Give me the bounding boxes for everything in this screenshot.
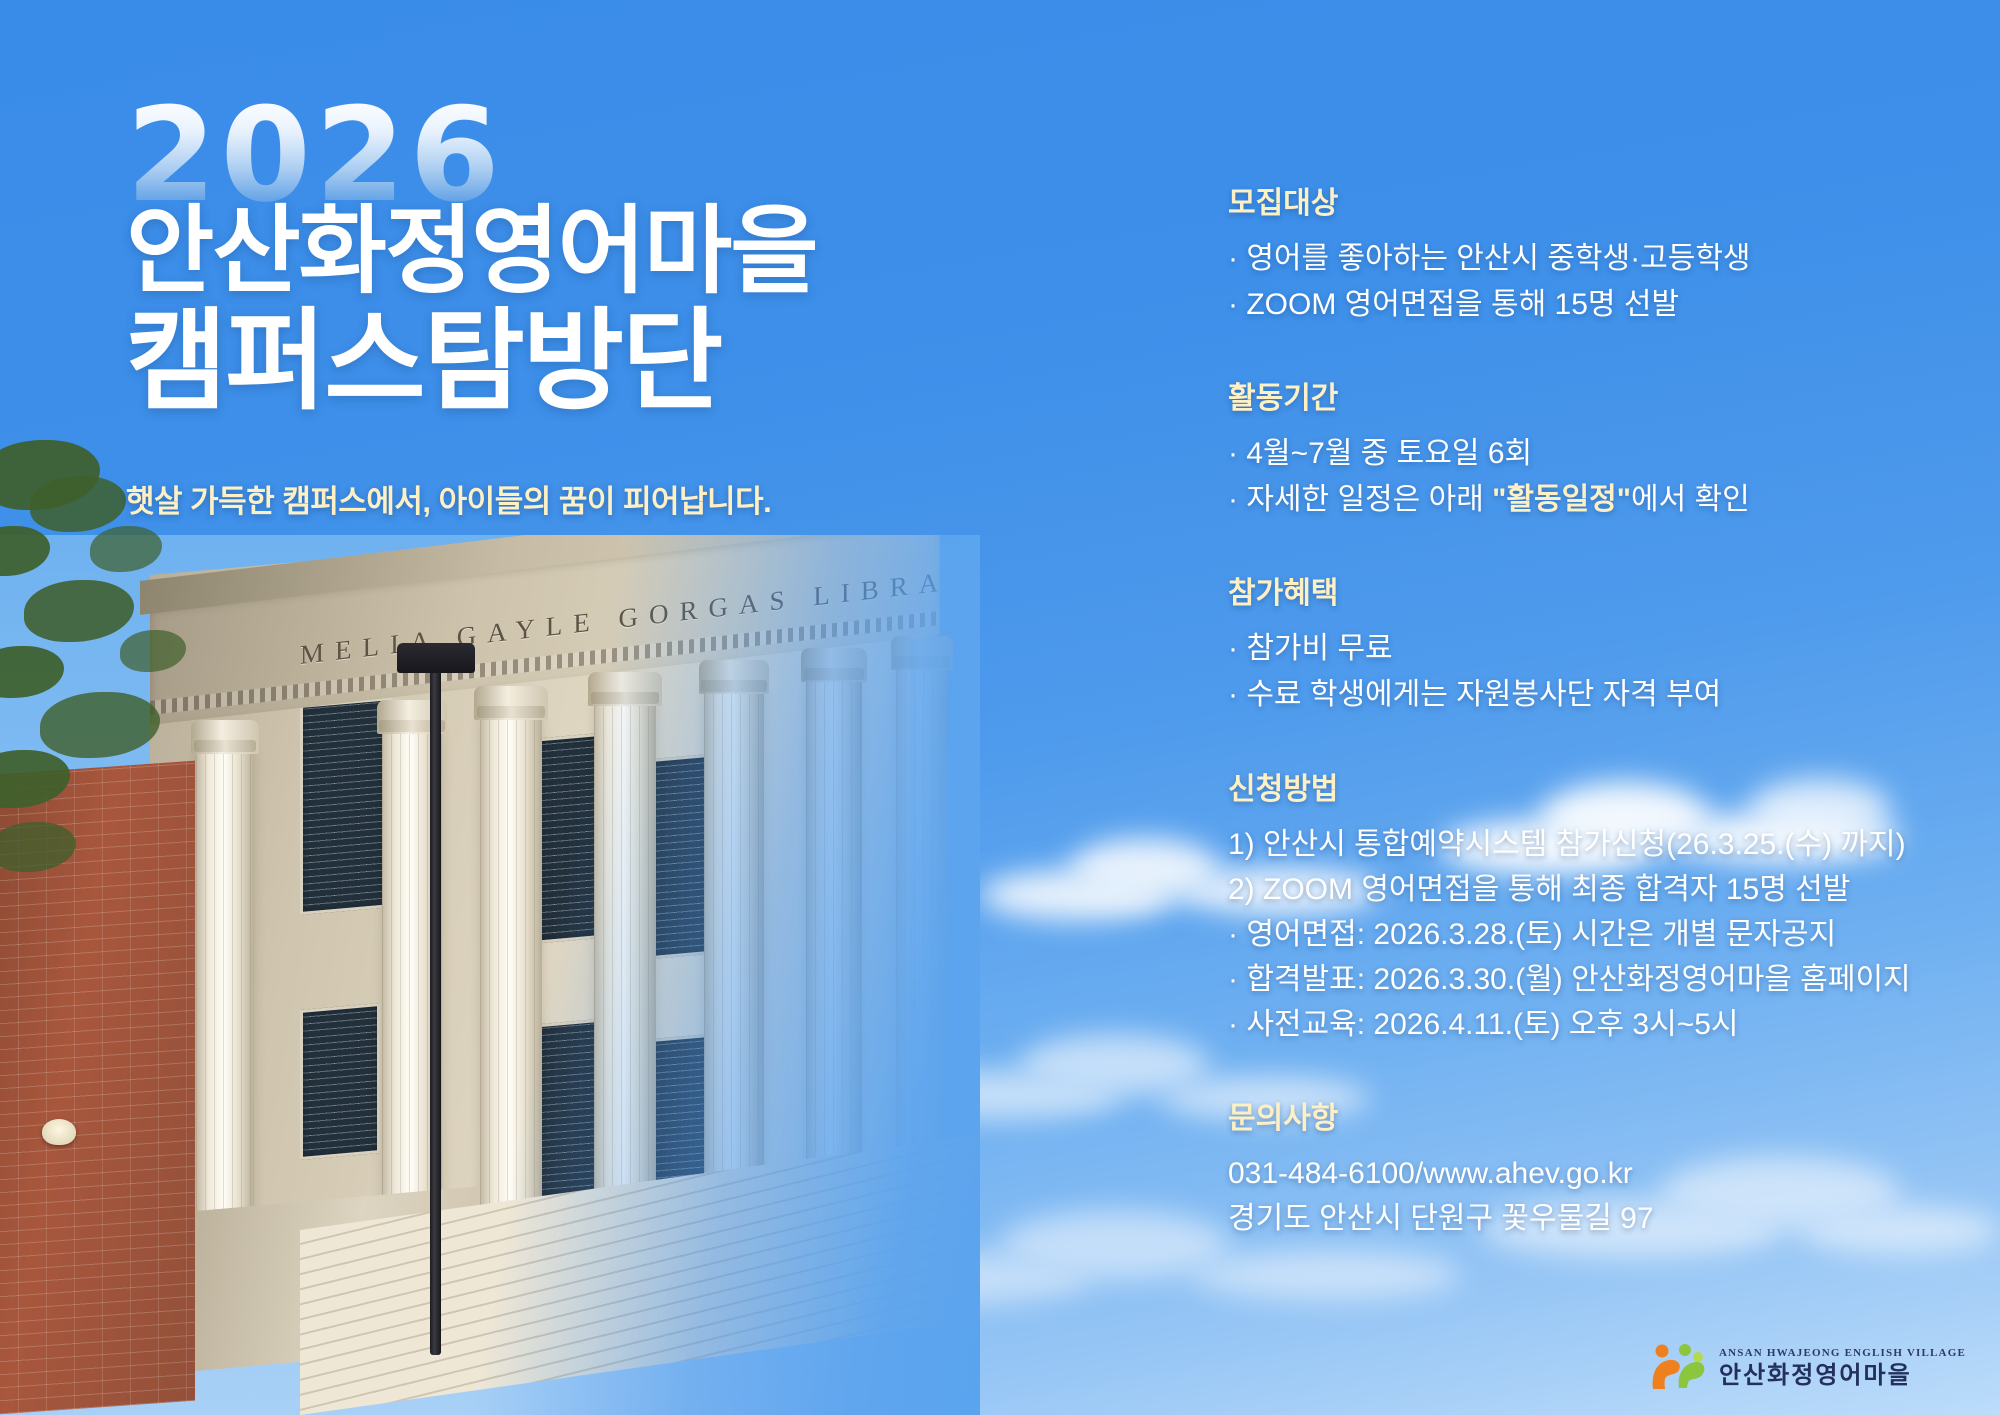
column-base bbox=[802, 1246, 867, 1268]
facade-window bbox=[520, 732, 612, 945]
title-block: 2026 안산화정영어마을 캠퍼스탐방단 햇살 가득한 캠퍼스에서, 아이들의 … bbox=[126, 96, 1026, 521]
column-capital bbox=[474, 686, 547, 720]
contact-address: 경기도 안산시 단원구 꽃우물길 97 bbox=[1228, 1196, 1988, 1242]
info-item: 2) ZOOM 영어면접을 통해 최종 합격자 15명 선발 bbox=[1228, 867, 1988, 912]
info-heading: 모집대상 bbox=[1228, 178, 1988, 222]
info-item: · 영어를 좋아하는 안산시 중학생·고등학생 bbox=[1228, 236, 1988, 282]
lamp-post-head bbox=[397, 643, 475, 673]
wall-lamp bbox=[42, 1119, 76, 1145]
entablature bbox=[150, 535, 940, 725]
secondary-building bbox=[590, 935, 980, 1295]
building-inscription: MELIA GAYLE GORGAS LIBRARY bbox=[300, 557, 940, 680]
column-base bbox=[191, 1246, 258, 1268]
title-line-2: 캠퍼스탐방단 bbox=[126, 305, 1026, 419]
column bbox=[806, 678, 862, 1250]
item-suffix: 에서 확인 bbox=[1631, 483, 1750, 516]
photo-sky bbox=[0, 535, 980, 1415]
info-block-period: 활동기간 · 4월~7월 중 토요일 6회 · 자세한 일정은 아래 "활동일정… bbox=[1228, 373, 1988, 522]
column bbox=[704, 690, 764, 1250]
facade-door bbox=[530, 1018, 610, 1200]
info-item: · 영어면접: 2026.3.28.(토) 시간은 개별 문자공지 bbox=[1228, 912, 1988, 957]
info-heading: 문의사항 bbox=[1228, 1093, 1988, 1137]
secondary-columns bbox=[645, 961, 925, 1231]
column-base bbox=[892, 1246, 952, 1268]
dentil-molding bbox=[150, 611, 940, 715]
facade-window bbox=[300, 697, 392, 915]
logo-english-name: ANSAN HWAJEONG ENGLISH VILLAGE bbox=[1719, 1348, 1966, 1359]
info-column: 모집대상 · 영어를 좋아하는 안산시 중학생·고등학생 · ZOOM 영어면접… bbox=[1228, 178, 1988, 1242]
item-prefix: · 자세한 일정은 아래 bbox=[1228, 483, 1492, 516]
column-capital bbox=[699, 660, 770, 694]
column bbox=[196, 750, 254, 1250]
column bbox=[896, 666, 948, 1250]
column-base bbox=[699, 1246, 769, 1268]
info-item: · ZOOM 영어면접을 통해 15명 선발 bbox=[1228, 282, 1988, 328]
logo-mark-icon bbox=[1649, 1343, 1709, 1393]
column bbox=[594, 702, 656, 1250]
contact-phone-website[interactable]: 031-484-6100/www.ahev.go.kr bbox=[1228, 1151, 1988, 1197]
info-heading: 참가혜택 bbox=[1228, 568, 1988, 612]
library-facade bbox=[150, 535, 910, 1295]
entrance-steps bbox=[300, 1129, 980, 1415]
info-item: · 참가비 무료 bbox=[1228, 626, 1988, 672]
secondary-pediment bbox=[630, 868, 930, 979]
column-base bbox=[475, 1246, 547, 1268]
info-item: · 사전교육: 2026.4.11.(토) 오후 3시~5시 bbox=[1228, 1002, 1988, 1047]
title-line-1: 안산화정영어마을 bbox=[126, 202, 1026, 302]
logo-text: ANSAN HWAJEONG ENGLISH VILLAGE 안산화정영어마을 bbox=[1719, 1348, 1966, 1388]
info-item: · 4월~7월 중 토요일 6회 bbox=[1228, 431, 1988, 477]
schedule-highlight: "활동일정" bbox=[1492, 483, 1631, 516]
column-base bbox=[589, 1246, 661, 1268]
info-heading: 신청방법 bbox=[1228, 764, 1988, 808]
logo-korean-name: 안산화정영어마을 bbox=[1719, 1364, 1966, 1388]
tagline: 햇살 가득한 캠퍼스에서, 아이들의 꿈이 피어납니다. bbox=[126, 476, 1026, 521]
campus-building-photo: MELIA GAYLE GORGAS LIBRARY bbox=[0, 535, 980, 1415]
info-block-benefits: 참가혜택 · 참가비 무료 · 수료 학생에게는 자원봉사단 자격 부여 bbox=[1228, 568, 1988, 717]
organization-logo: ANSAN HWAJEONG ENGLISH VILLAGE 안산화정영어마을 bbox=[1649, 1343, 1966, 1393]
info-heading: 활동기간 bbox=[1228, 373, 1988, 417]
info-item: 1) 안산시 통합예약시스템 참가신청(26.3.25.(수) 까지) bbox=[1228, 822, 1988, 867]
info-item: · 수료 학생에게는 자원봉사단 자격 부여 bbox=[1228, 672, 1988, 718]
column bbox=[480, 716, 542, 1250]
info-item-with-highlight: · 자세한 일정은 아래 "활동일정"에서 확인 bbox=[1228, 477, 1988, 523]
info-item: · 합격발표: 2026.3.30.(월) 안산화정영어마을 홈페이지 bbox=[1228, 957, 1988, 1002]
poster: MELIA GAYLE GORGAS LIBRARY bbox=[0, 0, 2000, 1415]
facade-window bbox=[300, 1003, 380, 1160]
column-capital bbox=[588, 672, 661, 706]
facade-door bbox=[640, 1034, 712, 1210]
column-capital bbox=[801, 648, 867, 682]
brick-wall bbox=[0, 761, 195, 1415]
info-block-contact: 문의사항 031-484-6100/www.ahev.go.kr 경기도 안산시… bbox=[1228, 1093, 1988, 1242]
cornice bbox=[140, 535, 950, 615]
info-block-application: 신청방법 1) 안산시 통합예약시스템 참가신청(26.3.25.(수) 까지)… bbox=[1228, 764, 1988, 1047]
info-block-recruitment: 모집대상 · 영어를 좋아하는 안산시 중학생·고등학생 · ZOOM 영어면접… bbox=[1228, 178, 1988, 327]
column-capital bbox=[891, 636, 952, 670]
lamp-post bbox=[430, 655, 441, 1355]
facade-window bbox=[640, 752, 726, 960]
column-capital bbox=[191, 720, 259, 754]
